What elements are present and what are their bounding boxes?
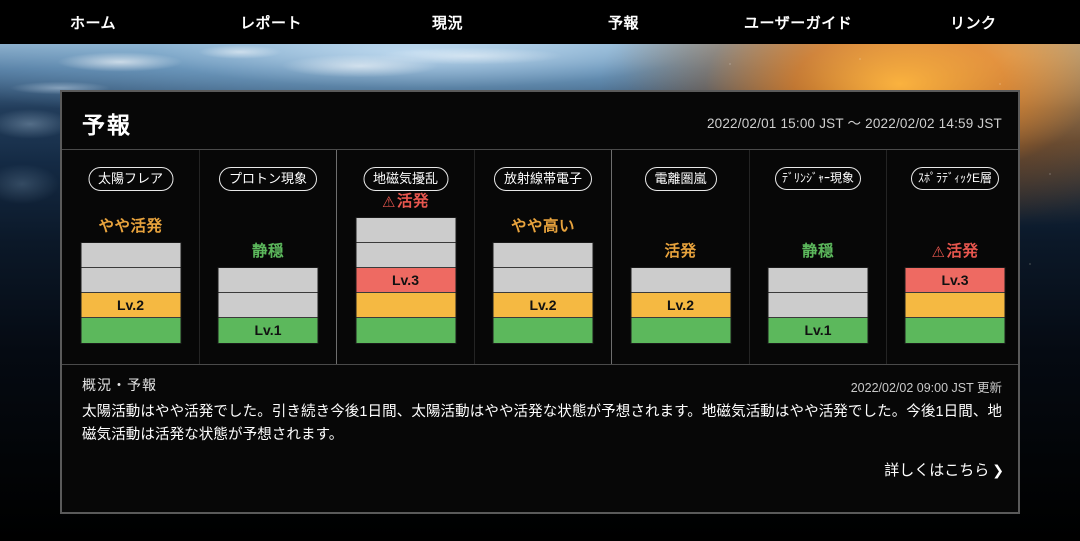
card-proton-event-status-label: 静穏 [200, 239, 336, 261]
card-ionospheric-storm: 電離圏嵐Lv.2活発 [612, 150, 749, 364]
card-ionospheric-storm-status-label: 活発 [612, 239, 749, 261]
level-segment [494, 243, 593, 268]
level-segment: Lv.2 [631, 293, 730, 318]
chevron-right-icon: ❯ [992, 462, 1004, 478]
card-solar-flare: 太陽フレアLv.2やや活発 [62, 150, 199, 364]
card-radiation-belt-electron-title-pill[interactable]: 放射線帯電子 [494, 167, 592, 191]
card-dellinger-phenomenon-level-bar: Lv.1 [768, 267, 869, 344]
level-segment [906, 293, 1005, 318]
card-geomagnetic-disturbance-title-pill[interactable]: 地磁気擾乱 [363, 167, 448, 191]
forecast-cards: 太陽フレアLv.2やや活発プロトン現象Lv.1静穏地磁気擾乱Lv.3⚠活発放射線… [62, 150, 1018, 365]
nav-forecast[interactable]: 予報 [608, 12, 639, 33]
card-dellinger-phenomenon: ﾃﾞﾘﾝｼﾞｬｰ現象Lv.1静穏 [749, 150, 886, 364]
summary-updated-timestamp: 2022/02/02 09:00 JST 更新 [851, 377, 1002, 396]
nav-userguide[interactable]: ユーザーガイド [744, 12, 852, 33]
level-segment: Lv.2 [494, 293, 593, 318]
nav-report[interactable]: レポート [240, 12, 302, 33]
card-geomagnetic-disturbance: 地磁気擾乱Lv.3⚠活発 [337, 150, 474, 364]
level-segment [631, 268, 730, 293]
nav-home[interactable]: ホーム [70, 12, 116, 33]
status-text: やや高い [511, 218, 575, 235]
status-text: 静穏 [802, 243, 834, 260]
level-segment [631, 318, 730, 343]
status-text: 活発 [397, 193, 429, 210]
level-segment [81, 243, 180, 268]
level-segment [356, 318, 455, 343]
summary-section: 概況・予報 2022/02/02 09:00 JST 更新 太陽活動はやや活発で… [62, 365, 1018, 448]
level-segment [356, 243, 455, 268]
details-link[interactable]: 詳しくはこちら❯ [884, 459, 1004, 480]
page-title: 予報 [82, 106, 132, 140]
card-sporadic-e-title-pill[interactable]: ｽﾎﾟﾗﾃﾞｨｯｸE層 [911, 167, 999, 190]
forecast-panel: 予報 2022/02/01 15:00 JST 〜 2022/02/02 14:… [60, 90, 1020, 514]
level-segment: Lv.1 [769, 318, 868, 343]
card-geomagnetic-disturbance-level-bar: Lv.3 [355, 217, 456, 344]
level-segment [769, 268, 868, 293]
card-radiation-belt-electron: 放射線帯電子Lv.2やや高い [474, 150, 611, 364]
level-segment: Lv.2 [81, 293, 180, 318]
nav-links[interactable]: リンク [950, 12, 997, 33]
level-segment [219, 268, 318, 293]
details-link-label: 詳しくはこちら [884, 462, 989, 479]
status-text: 活発 [946, 243, 978, 260]
summary-body-text: 太陽活動はやや活発でした。引き続き今後1日間、太陽活動はやや活発な状態が予想され… [82, 401, 1012, 448]
card-radiation-belt-electron-status-label: やや高い [475, 214, 611, 236]
level-segment [494, 318, 593, 343]
card-proton-event-level-bar: Lv.1 [218, 267, 319, 344]
card-proton-event: プロトン現象Lv.1静穏 [199, 150, 336, 364]
card-dellinger-phenomenon-status-label: 静穏 [750, 239, 886, 261]
warning-triangle-icon: ⚠ [382, 193, 396, 211]
level-segment [769, 293, 868, 318]
forecast-time-range: 2022/02/01 15:00 JST 〜 2022/02/02 14:59 … [707, 112, 1002, 132]
level-segment: Lv.3 [906, 268, 1005, 293]
card-ionospheric-storm-level-bar: Lv.2 [630, 267, 731, 344]
status-text: 活発 [664, 243, 696, 260]
status-text: 静穏 [252, 243, 284, 260]
group-solar: 太陽フレアLv.2やや活発プロトン現象Lv.1静穏 [62, 150, 336, 364]
summary-header: 概況・予報 2022/02/02 09:00 JST 更新 [82, 365, 998, 399]
panel-header: 予報 2022/02/01 15:00 JST 〜 2022/02/02 14:… [62, 92, 1018, 150]
level-segment [81, 268, 180, 293]
group-geomagnetic: 地磁気擾乱Lv.3⚠活発放射線帯電子Lv.2やや高い [336, 150, 611, 364]
status-text: やや活発 [98, 218, 162, 235]
group-ionosphere: 電離圏嵐Lv.2活発ﾃﾞﾘﾝｼﾞｬｰ現象Lv.1静穏ｽﾎﾟﾗﾃﾞｨｯｸE層Lv.… [611, 150, 1023, 364]
level-segment: Lv.3 [356, 268, 455, 293]
card-sporadic-e-status-label: ⚠活発 [887, 239, 1023, 261]
level-segment [356, 218, 455, 243]
nav-current[interactable]: 現況 [432, 12, 463, 33]
card-ionospheric-storm-title-pill[interactable]: 電離圏嵐 [644, 167, 716, 191]
level-segment: Lv.1 [219, 318, 318, 343]
screen: ホームレポート現況予報ユーザーガイドリンク 予報 2022/02/01 15:0… [0, 0, 1080, 541]
card-sporadic-e-level-bar: Lv.3 [905, 267, 1006, 344]
card-proton-event-title-pill[interactable]: プロトン現象 [219, 167, 317, 191]
card-sporadic-e: ｽﾎﾟﾗﾃﾞｨｯｸE層Lv.3⚠活発 [886, 150, 1023, 364]
card-dellinger-phenomenon-title-pill[interactable]: ﾃﾞﾘﾝｼﾞｬｰ現象 [775, 167, 861, 190]
level-segment [356, 293, 455, 318]
card-geomagnetic-disturbance-status-label: ⚠活発 [337, 189, 474, 211]
card-solar-flare-status-label: やや活発 [62, 214, 199, 236]
level-segment [81, 318, 180, 343]
card-radiation-belt-electron-level-bar: Lv.2 [493, 242, 594, 344]
level-segment [219, 293, 318, 318]
summary-title: 概況・予報 [82, 375, 157, 395]
level-segment [494, 268, 593, 293]
card-solar-flare-level-bar: Lv.2 [80, 242, 181, 344]
level-segment [906, 318, 1005, 343]
warning-triangle-icon: ⚠ [932, 243, 946, 261]
top-navigation: ホームレポート現況予報ユーザーガイドリンク [0, 0, 1080, 44]
card-solar-flare-title-pill[interactable]: 太陽フレア [88, 167, 173, 191]
